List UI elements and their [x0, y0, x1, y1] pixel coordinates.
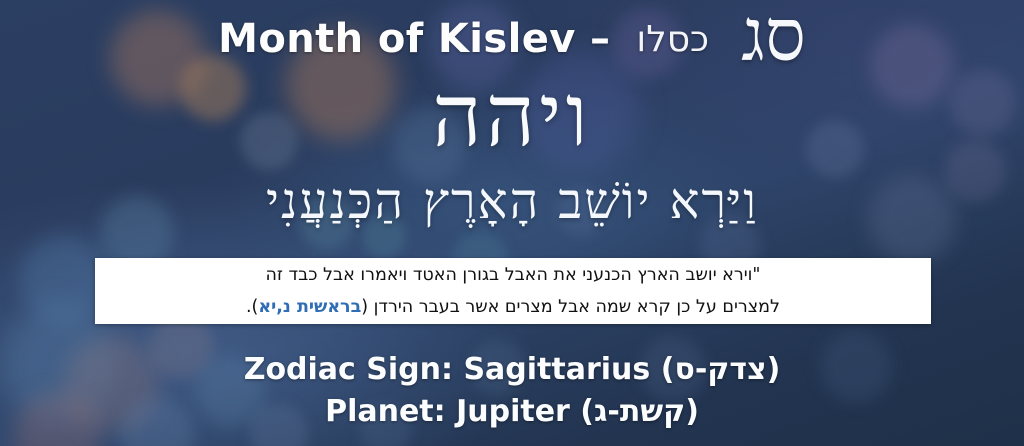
quote-line-2-tail: ).: [246, 297, 258, 317]
planet-hebrew: קשת-ג: [594, 394, 685, 429]
divine-name-permutation: ויהה: [0, 66, 1024, 166]
page-title-latin: Month of Kislev –: [218, 16, 610, 62]
page-title-hebrew-month: כסלו: [636, 19, 709, 60]
planet-label: Planet: Jupiter (: [325, 394, 594, 429]
quote-line-2-text: למצרים על כן קרא שמה אבל מצרים אשר בעבר …: [361, 297, 780, 317]
planet-close-paren: ): [685, 394, 699, 429]
quote-line-1: "וירא יושב הארץ הכנעני את האבל בגורן האט…: [95, 259, 931, 291]
verse-heading: וַיַּרְא יוֹשֵׁב הָאָרֶץ הַכְּנַעֲנִי: [0, 172, 1024, 230]
kislev-banner: Month of Kislev – כסלו סג ויהה וַיַּרְא …: [0, 0, 1024, 446]
zodiac-hebrew: צדק-ס: [674, 352, 766, 387]
zodiac-close-paren: ): [767, 352, 781, 387]
zodiac-label: Zodiac Sign: Sagittarius (: [244, 352, 675, 387]
quote-line-2: למצרים על כן קרא שמה אבל מצרים אשר בעבר …: [95, 291, 931, 323]
scripture-citation: בראשית נ,יא: [258, 297, 361, 317]
planet-row: Planet: Jupiter (קשת-ג): [0, 394, 1024, 429]
scripture-quote-panel: "וירא יושב הארץ הכנעני את האבל בגורן האט…: [95, 258, 931, 324]
banner-title-row: Month of Kislev – כסלו סג: [0, 8, 1024, 70]
gematria-value: סג: [741, 5, 806, 66]
zodiac-row: Zodiac Sign: Sagittarius (צדק-ס): [0, 352, 1024, 387]
